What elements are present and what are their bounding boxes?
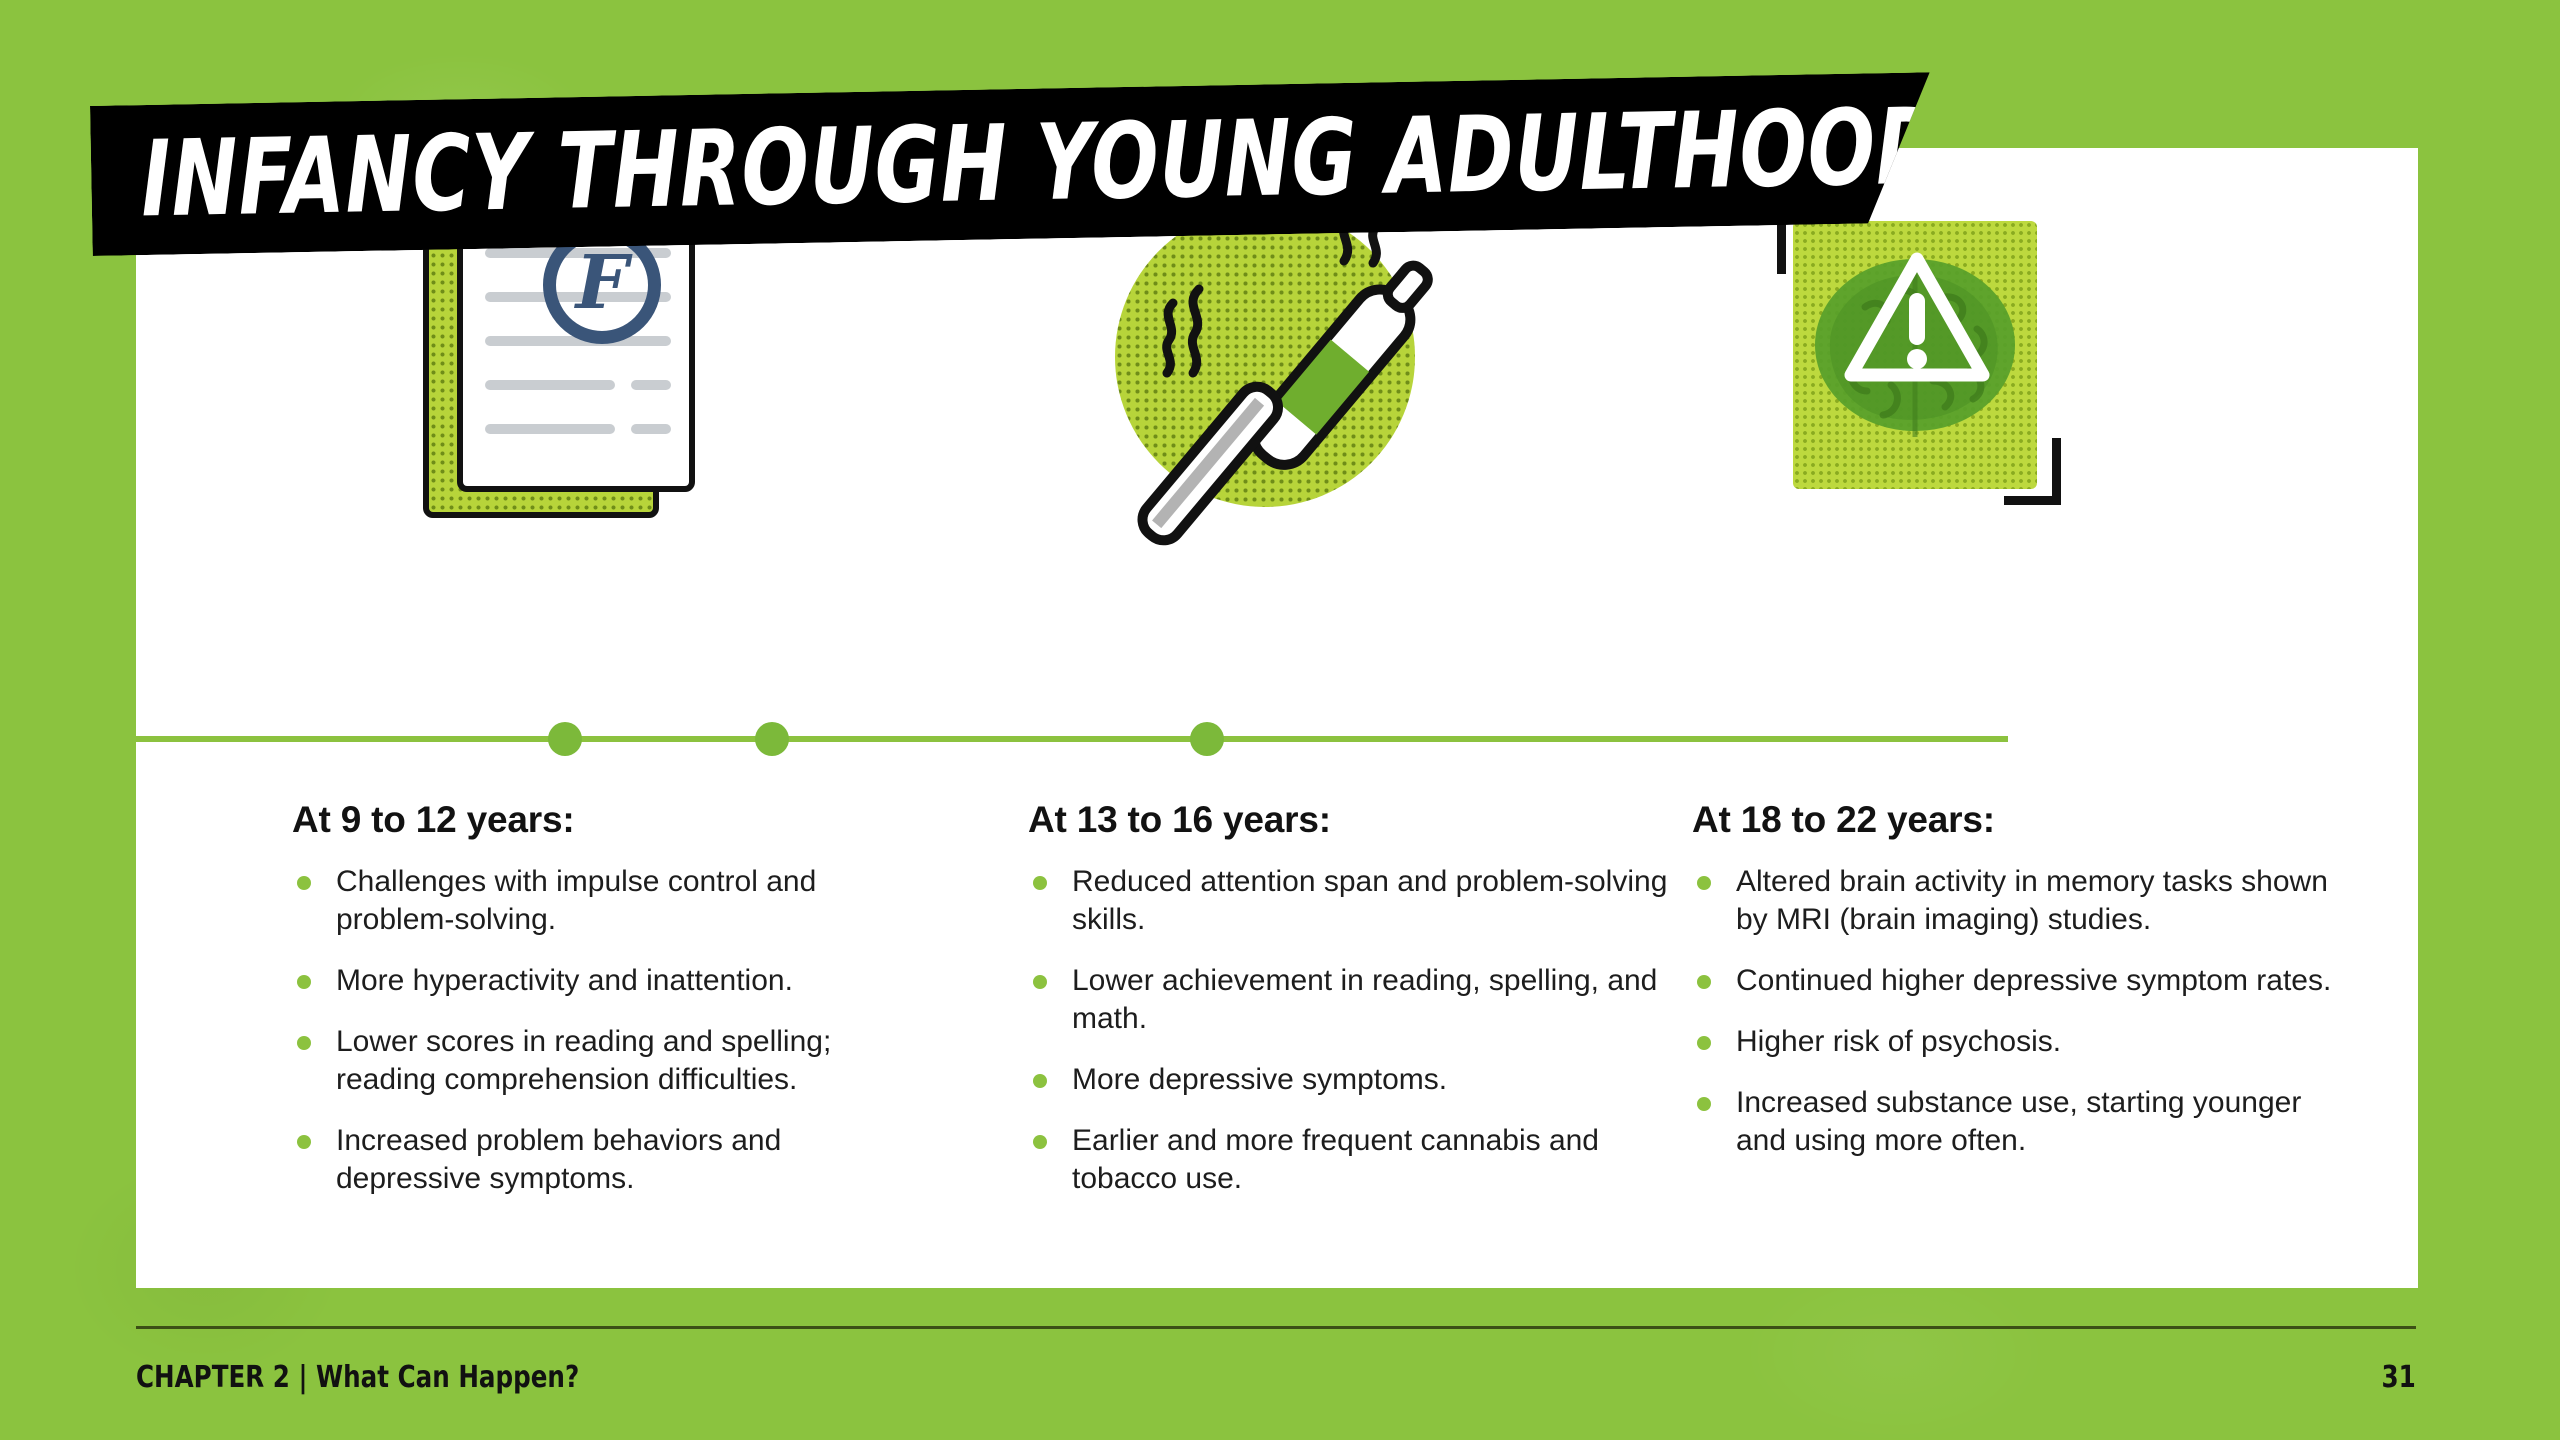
- bullet-list: Reduced attention span and problem-solvi…: [1028, 863, 1668, 1199]
- footer-divider: [136, 1326, 2416, 1329]
- column-13-to-16: At 13 to 16 years: Reduced attention spa…: [1028, 800, 1668, 1198]
- columns: At 9 to 12 years: Challenges with impuls…: [0, 800, 2560, 1220]
- timeline-dot[interactable]: [548, 722, 582, 756]
- bullet-list: Challenges with impulse control and prob…: [292, 863, 932, 1199]
- list-item: Earlier and more frequent cannabis and t…: [1028, 1122, 1668, 1198]
- list-item: Higher risk of psychosis.: [1692, 1023, 2332, 1061]
- column-heading: At 9 to 12 years:: [292, 800, 932, 841]
- report-line: [631, 380, 671, 390]
- footer: CHAPTER 2 | What Can Happen? 31: [136, 1352, 2416, 1402]
- grade-letter: F: [576, 246, 629, 320]
- column-heading: At 13 to 16 years:: [1028, 800, 1668, 841]
- list-item: Lower achievement in reading, spelling, …: [1028, 962, 1668, 1038]
- page-title: INFANCY THROUGH YOUNG ADULTHOOD: [90, 95, 1943, 234]
- list-item: More hyperactivity and inattention.: [292, 962, 932, 1000]
- list-item: Reduced attention span and problem-solvi…: [1028, 863, 1668, 939]
- list-item: Challenges with impulse control and prob…: [292, 863, 932, 939]
- report-line: [485, 424, 615, 434]
- list-item: Lower scores in reading and spelling; re…: [292, 1023, 932, 1099]
- footer-page-number: 31: [2382, 1360, 2416, 1395]
- bullet-list: Altered brain activity in memory tasks s…: [1692, 863, 2332, 1161]
- icon-slot-brain-warning: [1705, 172, 2125, 542]
- cannabis-vape-icon: [1115, 207, 1415, 507]
- report-line: [631, 424, 671, 434]
- list-item: Continued higher depressive symptom rate…: [1692, 962, 2332, 1000]
- timeline-dot[interactable]: [1190, 722, 1224, 756]
- column-heading: At 18 to 22 years:: [1692, 800, 2332, 841]
- footer-chapter-label: CHAPTER 2 | What Can Happen?: [136, 1360, 579, 1395]
- list-item: More depressive symptoms.: [1028, 1061, 1668, 1099]
- corner-bracket-bottom-right-icon: [2004, 438, 2061, 505]
- slide: INFANCY THROUGH YOUNG ADULTHOOD F: [0, 0, 2560, 1440]
- column-18-to-22: At 18 to 22 years: Altered brain activit…: [1692, 800, 2332, 1160]
- column-9-to-12: At 9 to 12 years: Challenges with impuls…: [292, 800, 932, 1198]
- warning-triangle-icon: [1843, 249, 1991, 389]
- list-item: Increased problem behaviors and depressi…: [292, 1122, 932, 1198]
- brain-warning-icon: [1769, 207, 2061, 507]
- list-item: Increased substance use, starting younge…: [1692, 1084, 2332, 1160]
- list-item: Altered brain activity in memory tasks s…: [1692, 863, 2332, 939]
- report-line: [485, 380, 615, 390]
- timeline-track: [136, 736, 2008, 742]
